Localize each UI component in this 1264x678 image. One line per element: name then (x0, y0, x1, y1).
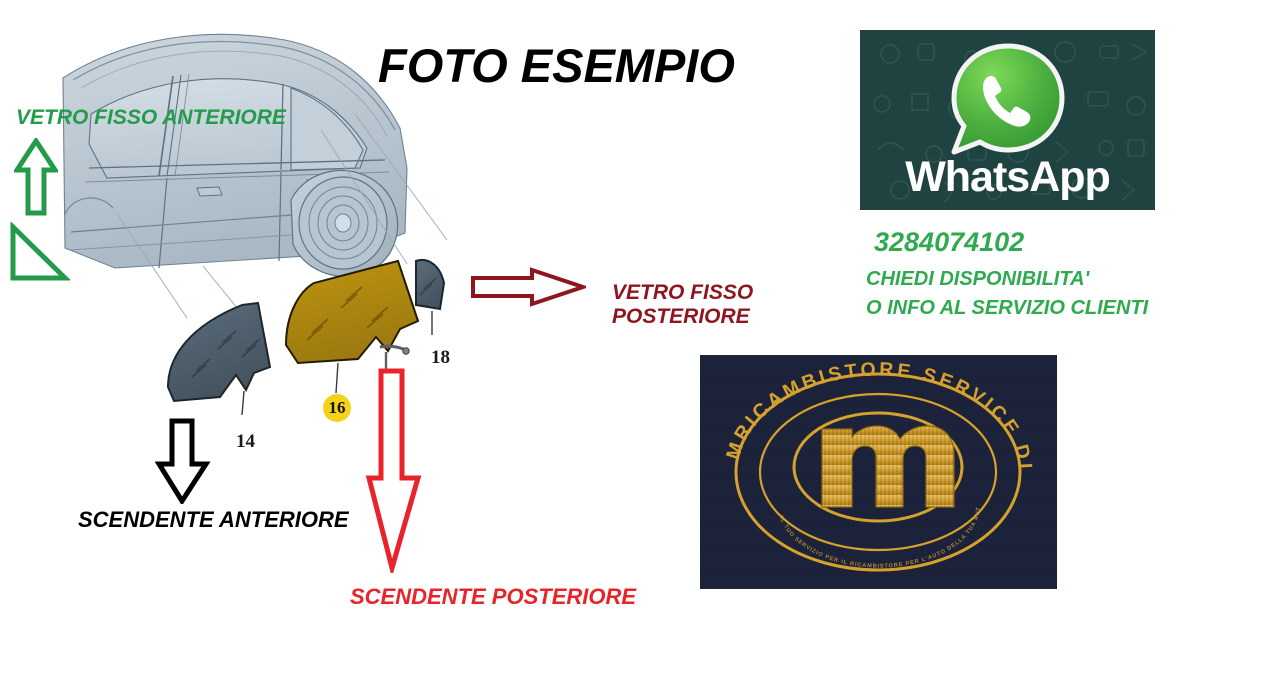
whatsapp-card: WhatsApp (860, 30, 1155, 210)
company-logo-plate: MRICAMBISTORE SERVICE DI RUSSO MARCO AL … (700, 355, 1057, 589)
phone-number[interactable]: 3284074102 (874, 227, 1024, 258)
part-number-badge-16: 16 (323, 394, 351, 422)
triangle-green-icon (8, 222, 70, 289)
whatsapp-wordmark: WhatsApp (860, 153, 1155, 202)
label-vetro-fisso-posteriore: VETRO FISSO POSTERIORE (612, 281, 753, 328)
page-title: FOTO ESEMPIO (378, 38, 735, 93)
whatsapp-phone-bubble-icon (946, 40, 1070, 165)
exploded-glass-parts (150, 255, 480, 430)
contact-line-2: O INFO AL SERVIZIO CLIENTI (866, 297, 1148, 320)
label-vetro-fisso-posteriore-line1: VETRO FISSO (612, 281, 753, 305)
label-scendente-posteriore: SCENDENTE POSTERIORE (350, 585, 636, 610)
label-vetro-fisso-anteriore: VETRO FISSO ANTERIORE (16, 106, 286, 130)
arrow-down-red-icon (363, 368, 423, 578)
arrow-up-green-icon (14, 138, 58, 221)
contact-line-1: CHIEDI DISPONIBILITA' (866, 268, 1089, 291)
glass-part-14 (168, 303, 270, 415)
part-number-18: 18 (431, 347, 450, 369)
logo-monogram (822, 426, 954, 507)
glass-part-18 (416, 260, 444, 335)
arrow-right-darkred-icon (470, 266, 586, 313)
arrow-down-black-icon (155, 418, 211, 509)
label-scendente-anteriore: SCENDENTE ANTERIORE (78, 508, 349, 533)
screenshot-canvas: 14 16 17 18 FOTO ESEMPIO VETRO FISSO ANT… (0, 0, 1264, 678)
part-number-14: 14 (236, 431, 255, 453)
label-vetro-fisso-posteriore-line2: POSTERIORE (612, 305, 753, 329)
